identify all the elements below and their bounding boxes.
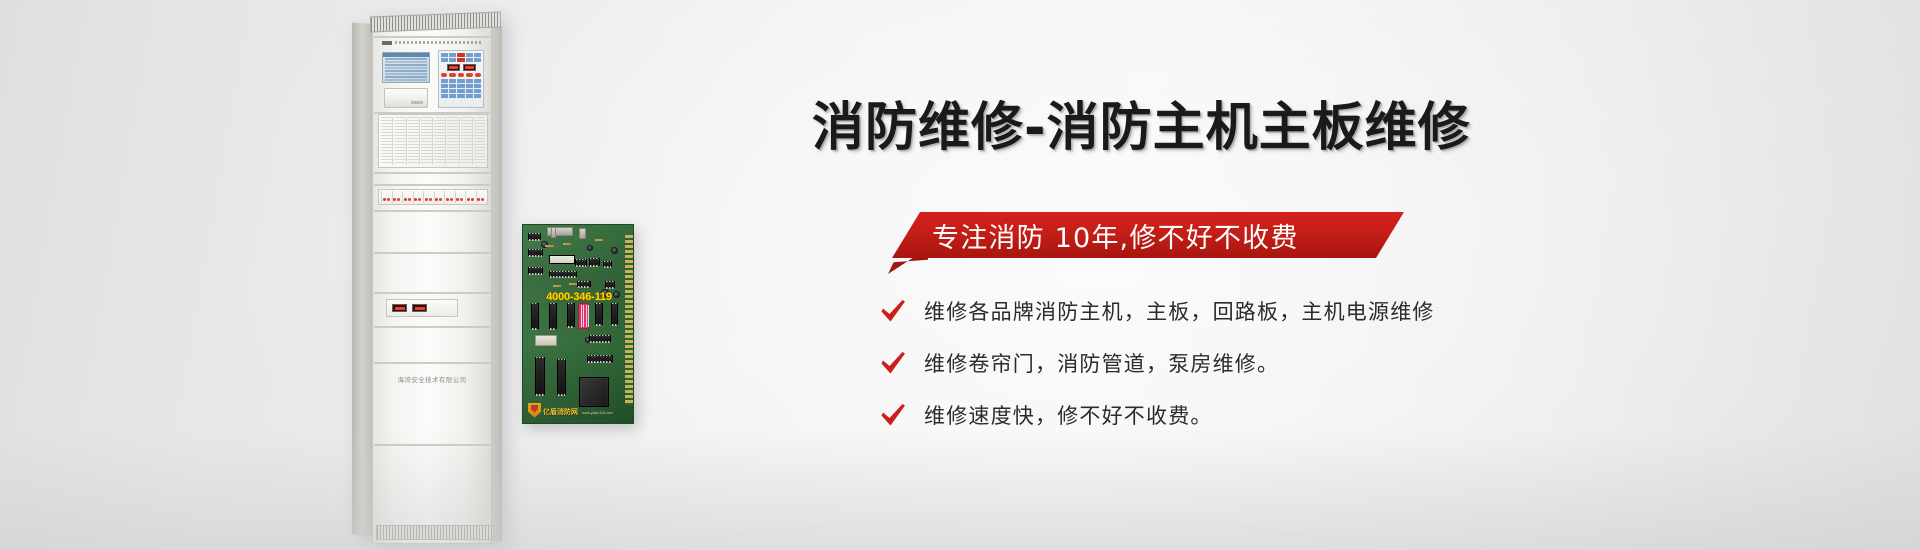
cabinet-bottom-vent xyxy=(376,525,494,540)
cabinet-model-text xyxy=(395,41,482,44)
pcb-ic-chip xyxy=(567,303,575,327)
list-item: 维修卷帘门，消防管道，泵房维修。 xyxy=(880,348,1435,378)
pcb-resistor xyxy=(569,283,577,285)
pcb-ic-chip xyxy=(589,335,611,342)
cabinet-led-indicator-bar xyxy=(378,189,488,205)
cabinet-seam xyxy=(374,292,490,294)
cabinet-zone-label-block xyxy=(378,114,488,168)
pcb-resistor xyxy=(563,243,571,245)
pcb-resistor xyxy=(545,245,554,247)
cabinet-seam xyxy=(374,326,490,328)
pcb-pin-connector xyxy=(579,228,586,239)
cabinet-logo-icon xyxy=(382,41,392,45)
keypad-numeric-grid xyxy=(441,79,481,98)
pcb-ic-chip xyxy=(587,355,613,362)
cabinet-seam xyxy=(374,36,490,38)
pcb-ic-chip xyxy=(595,303,603,325)
pcb-crystal-oscillator xyxy=(535,335,557,346)
ribbon-body: 专注消防 10年,修不好不收费 xyxy=(892,212,1404,258)
cabinet-printer-door xyxy=(384,88,428,108)
pcb-pin-connector xyxy=(551,227,556,238)
pcb-gold-finger-connector xyxy=(625,235,633,405)
pcb-ic-chip xyxy=(611,303,618,325)
pcb-resistor xyxy=(553,285,561,287)
cabinet-seam xyxy=(374,252,490,254)
ribbon-label: 专注消防 10年,修不好不收费 xyxy=(932,216,1299,255)
list-item-label: 维修各品牌消防主机，主板，回路板，主机电源维修 xyxy=(924,296,1435,326)
pcb-watermark-logo: 亿盾消防网 www.yidun119.com xyxy=(528,402,613,418)
check-icon xyxy=(880,403,906,427)
lcd-rows xyxy=(383,57,429,82)
page-title: 消防维修-消防主机主板维修 xyxy=(812,100,1471,156)
pcb-ic-chip xyxy=(549,303,557,329)
pcb-ic-chip-light xyxy=(549,255,575,264)
cabinet-keypad xyxy=(438,50,484,108)
main-board-image: 4000-346-119 亿盾消防网 www.yidun119.com xyxy=(522,224,634,424)
pcb-dip-switch xyxy=(578,303,589,329)
promo-banner: 海湾安全技术有限公司 xyxy=(0,0,1920,550)
pcb-ic-chip xyxy=(603,261,612,267)
cabinet-seam xyxy=(374,184,490,186)
pcb-eprom-chip xyxy=(557,359,566,395)
cabinet-lcd-screen xyxy=(382,52,430,83)
tagline-ribbon: 专注消防 10年,修不好不收费 xyxy=(888,212,1408,274)
cabinet-seam xyxy=(374,362,490,364)
pcb-phone-number-overlay: 4000-346-119 xyxy=(529,291,629,303)
cabinet-brand-strip xyxy=(382,40,482,45)
cabinet-power-supply-module xyxy=(386,299,458,317)
keypad-indicator-buttons xyxy=(441,73,481,77)
keypad-seven-segment-displays xyxy=(441,64,481,71)
pcb-cpu-chip xyxy=(535,357,545,395)
pcb-ic-chip xyxy=(605,281,615,288)
pcb-ic-chip xyxy=(528,249,543,256)
list-item-label: 维修速度快，修不好不收费。 xyxy=(924,400,1213,430)
pcb-ic-chip xyxy=(549,271,577,277)
feature-list: 维修各品牌消防主机，主板，回路板，主机电源维修 维修卷帘门，消防管道，泵房维修。… xyxy=(880,296,1435,430)
cabinet-right-edge xyxy=(491,26,502,542)
logo-url: www.yidun119.com xyxy=(582,411,612,415)
logo-name: 亿盾消防网 xyxy=(543,409,578,416)
cabinet-seam xyxy=(374,210,490,212)
pcb-ic-chip xyxy=(531,303,539,329)
list-item-label: 维修卷帘门，消防管道，泵房维修。 xyxy=(924,348,1279,378)
list-item: 维修速度快，修不好不收费。 xyxy=(880,400,1435,430)
pcb-ic-chip xyxy=(575,259,587,266)
pcb-capacitor xyxy=(587,245,593,251)
pcb-ic-chip xyxy=(577,281,591,287)
check-icon xyxy=(880,299,906,323)
pcb-ic-chip xyxy=(528,267,543,274)
shield-icon xyxy=(528,403,541,418)
cabinet-left-side xyxy=(352,22,374,536)
keypad-function-row xyxy=(441,53,481,62)
pcb-resistor xyxy=(595,239,603,241)
cabinet-seam xyxy=(374,444,490,446)
pcb-ic-chip xyxy=(589,258,600,266)
cabinet-manufacturer-label: 海湾安全技术有限公司 xyxy=(374,374,490,384)
list-item: 维修各品牌消防主机，主板，回路板，主机电源维修 xyxy=(880,296,1435,326)
cabinet-seam xyxy=(374,172,490,174)
pcb-substrate: 4000-346-119 亿盾消防网 www.yidun119.com xyxy=(522,224,634,424)
fire-alarm-cabinet-image: 海湾安全技术有限公司 xyxy=(352,14,512,542)
pcb-ic-chip xyxy=(528,233,541,240)
pcb-capacitor xyxy=(611,247,618,254)
check-icon xyxy=(880,351,906,375)
